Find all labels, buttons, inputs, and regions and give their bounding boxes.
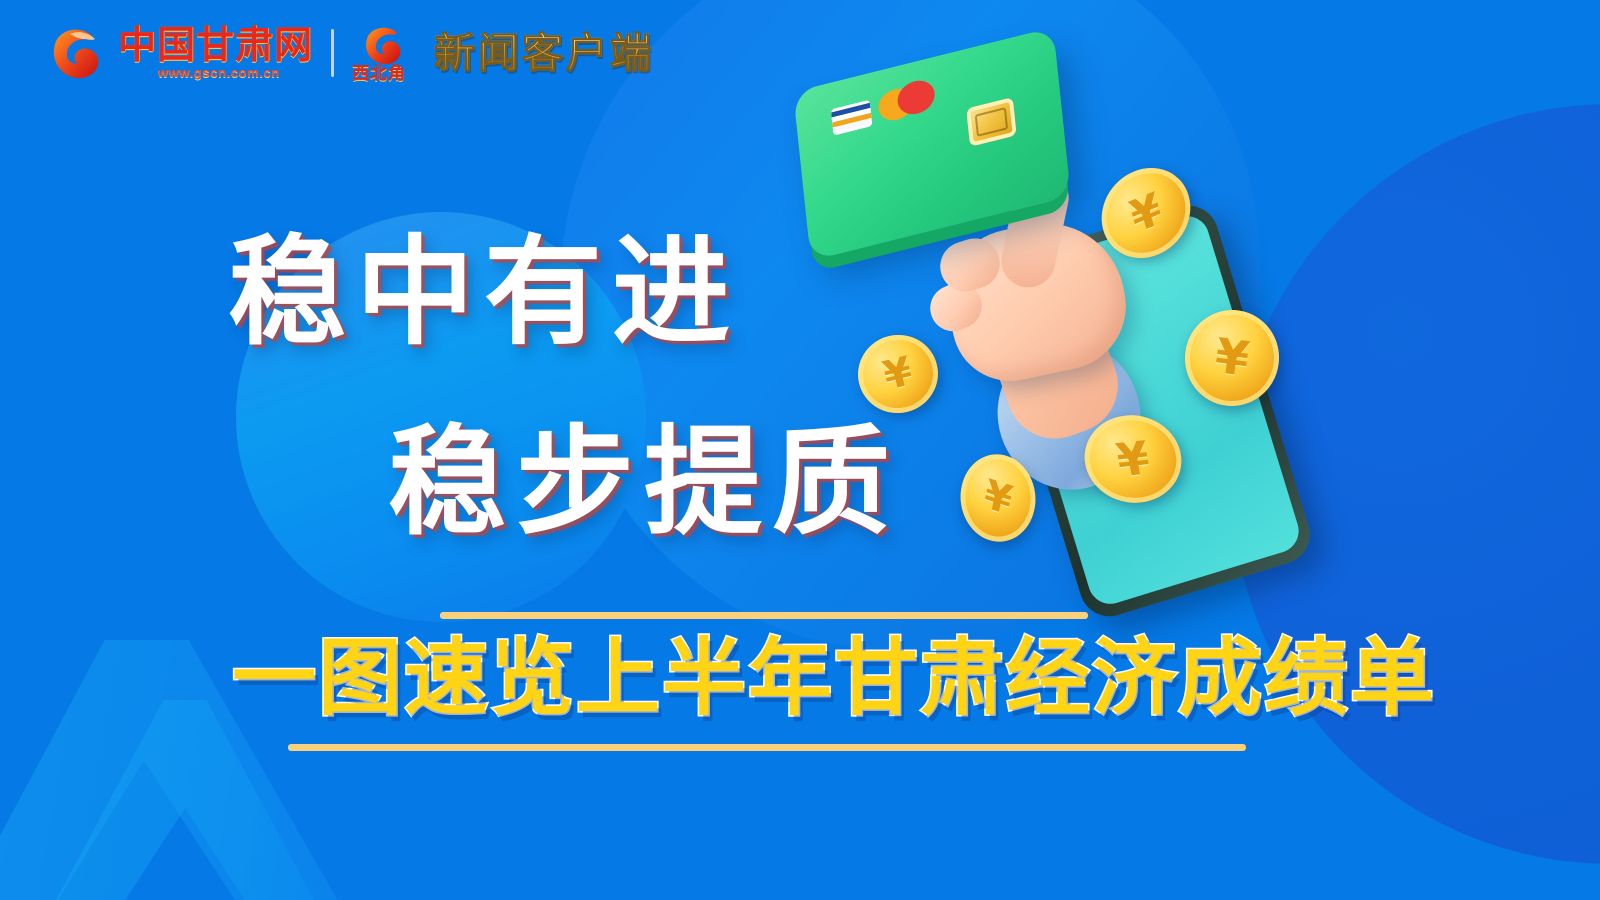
card-chip-icon <box>966 97 1017 147</box>
coin-symbol: ¥ <box>980 471 1016 525</box>
divider-rule-top <box>440 612 1088 619</box>
background-chevron-arrow-inner <box>0 700 400 900</box>
brand-header: 中国甘肃网 www.gscn.com.cn 西北角 新闻客户端 <box>48 22 654 84</box>
subtitle-text: 一图速览上半年甘肃经济成绩单 <box>232 636 1436 724</box>
coin-symbol: ¥ <box>879 348 917 399</box>
coin-symbol: ¥ <box>1112 431 1153 488</box>
sub-brand-name: 西北角 <box>352 59 406 84</box>
site-brand-block: 中国甘肃网 www.gscn.com.cn <box>118 27 313 79</box>
coin-symbol: ¥ <box>1212 328 1253 388</box>
headline-line-1: 稳中有进 <box>228 235 740 353</box>
brand-divider <box>331 29 334 77</box>
coin-symbol: ¥ <box>1125 183 1168 244</box>
divider-rule-bottom <box>288 744 1246 751</box>
site-name: 中国甘肃网 <box>118 27 313 65</box>
gansu-swirl-logo-icon <box>48 22 106 84</box>
poster-canvas: 中国甘肃网 www.gscn.com.cn 西北角 新闻客户端 <box>0 0 1600 900</box>
app-name: 新闻客户端 <box>434 33 654 74</box>
headline-line-2: 稳步提质 <box>388 425 900 543</box>
coin-yuan-5: ¥ <box>850 326 946 421</box>
sub-brand-block: 西北角 <box>352 22 418 84</box>
card-stripe-icon <box>831 100 873 136</box>
site-url: www.gscn.com.cn <box>118 66 313 79</box>
